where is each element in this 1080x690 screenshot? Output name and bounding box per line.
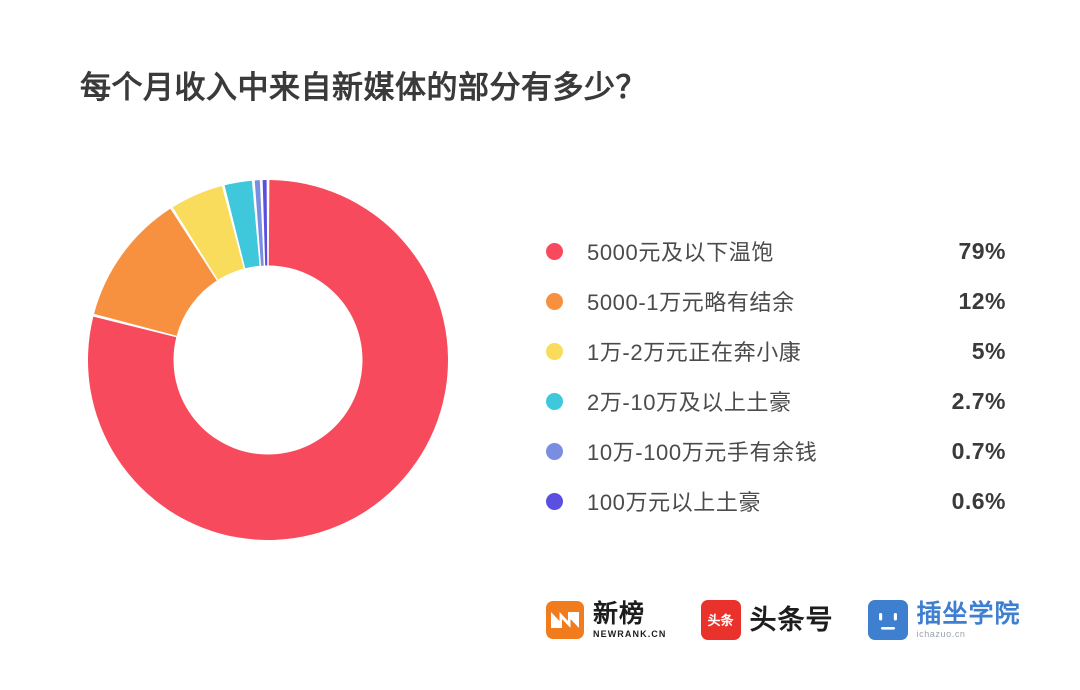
legend-item-value: 0.6%	[920, 488, 1006, 515]
legend-item[interactable]: 1万-2万元正在奔小康5%	[546, 326, 1006, 376]
chazuo-face-icon	[868, 600, 908, 640]
donut-chart-svg	[86, 178, 450, 542]
legend-item-label: 1万-2万元正在奔小康	[587, 335, 920, 367]
donut-slice[interactable]	[263, 180, 268, 266]
donut-slice-group	[88, 180, 448, 540]
legend-item-value: 0.7%	[920, 438, 1006, 465]
newrank-name-en: NEWRANK.CN	[593, 629, 667, 640]
legend-color-dot	[546, 243, 563, 260]
newrank-name-cn: 新榜	[593, 601, 667, 627]
newrank-zigzag-icon	[546, 601, 584, 639]
toutiao-wordmark: 头条号	[750, 606, 834, 634]
legend-color-dot	[546, 393, 563, 410]
legend-item-label: 10万-100万元手有余钱	[587, 435, 920, 467]
legend-item-label: 2万-10万及以上土豪	[587, 385, 920, 417]
legend-item-value: 2.7%	[920, 388, 1006, 415]
page-title: 每个月收入中来自新媒体的部分有多少？	[80, 62, 647, 107]
legend-color-dot	[546, 343, 563, 360]
legend-item-value: 12%	[920, 288, 1006, 315]
legend-item[interactable]: 5000-1万元略有结余12%	[546, 276, 1006, 326]
legend-item-label: 5000元及以下温饱	[587, 235, 920, 267]
legend-item-value: 79%	[920, 238, 1006, 265]
chart-page: 每个月收入中来自新媒体的部分有多少？ 5000元及以下温饱79%5000-1万元…	[0, 0, 1080, 690]
legend-item-value: 5%	[920, 338, 1006, 365]
toutiao-square-icon: 头条	[701, 600, 741, 640]
logo-toutiao: 头条 头条号	[701, 600, 834, 640]
chazuo-wordmark: 插坐学院 ichazuo.cn	[917, 601, 1021, 640]
chazuo-name-en: ichazuo.cn	[917, 629, 1021, 640]
legend-color-dot	[546, 443, 563, 460]
legend-item-label: 5000-1万元略有结余	[587, 285, 920, 317]
legend-item-label: 100万元以上土豪	[587, 485, 920, 517]
chazuo-name-cn: 插坐学院	[917, 601, 1021, 627]
donut-chart	[86, 178, 450, 542]
legend-color-dot	[546, 493, 563, 510]
legend-item[interactable]: 5000元及以下温饱79%	[546, 226, 1006, 276]
logo-chazuo: 插坐学院 ichazuo.cn	[868, 600, 1021, 640]
legend-item[interactable]: 2万-10万及以上土豪2.7%	[546, 376, 1006, 426]
toutiao-mark-text: 头条	[707, 614, 733, 627]
legend-color-dot	[546, 293, 563, 310]
logo-row: 新榜 NEWRANK.CN 头条 头条号 插坐学院 ichaz	[546, 592, 1021, 648]
logo-newrank: 新榜 NEWRANK.CN	[546, 601, 667, 640]
legend: 5000元及以下温饱79%5000-1万元略有结余12%1万-2万元正在奔小康5…	[546, 226, 1006, 526]
legend-item[interactable]: 100万元以上土豪0.6%	[546, 476, 1006, 526]
newrank-wordmark: 新榜 NEWRANK.CN	[593, 601, 667, 640]
legend-item[interactable]: 10万-100万元手有余钱0.7%	[546, 426, 1006, 476]
toutiao-name-cn: 头条号	[750, 606, 834, 634]
